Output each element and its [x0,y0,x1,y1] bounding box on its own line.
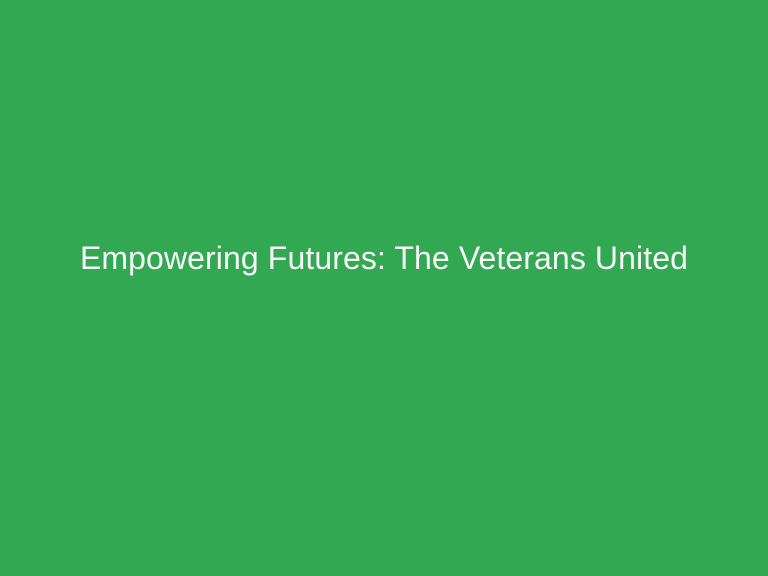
hero-banner-card: Empowering Futures: The Veterans United [0,0,768,576]
hero-title-block: Empowering Futures: The Veterans United [64,233,704,283]
page-title: Empowering Futures: The Veterans United [64,233,704,283]
